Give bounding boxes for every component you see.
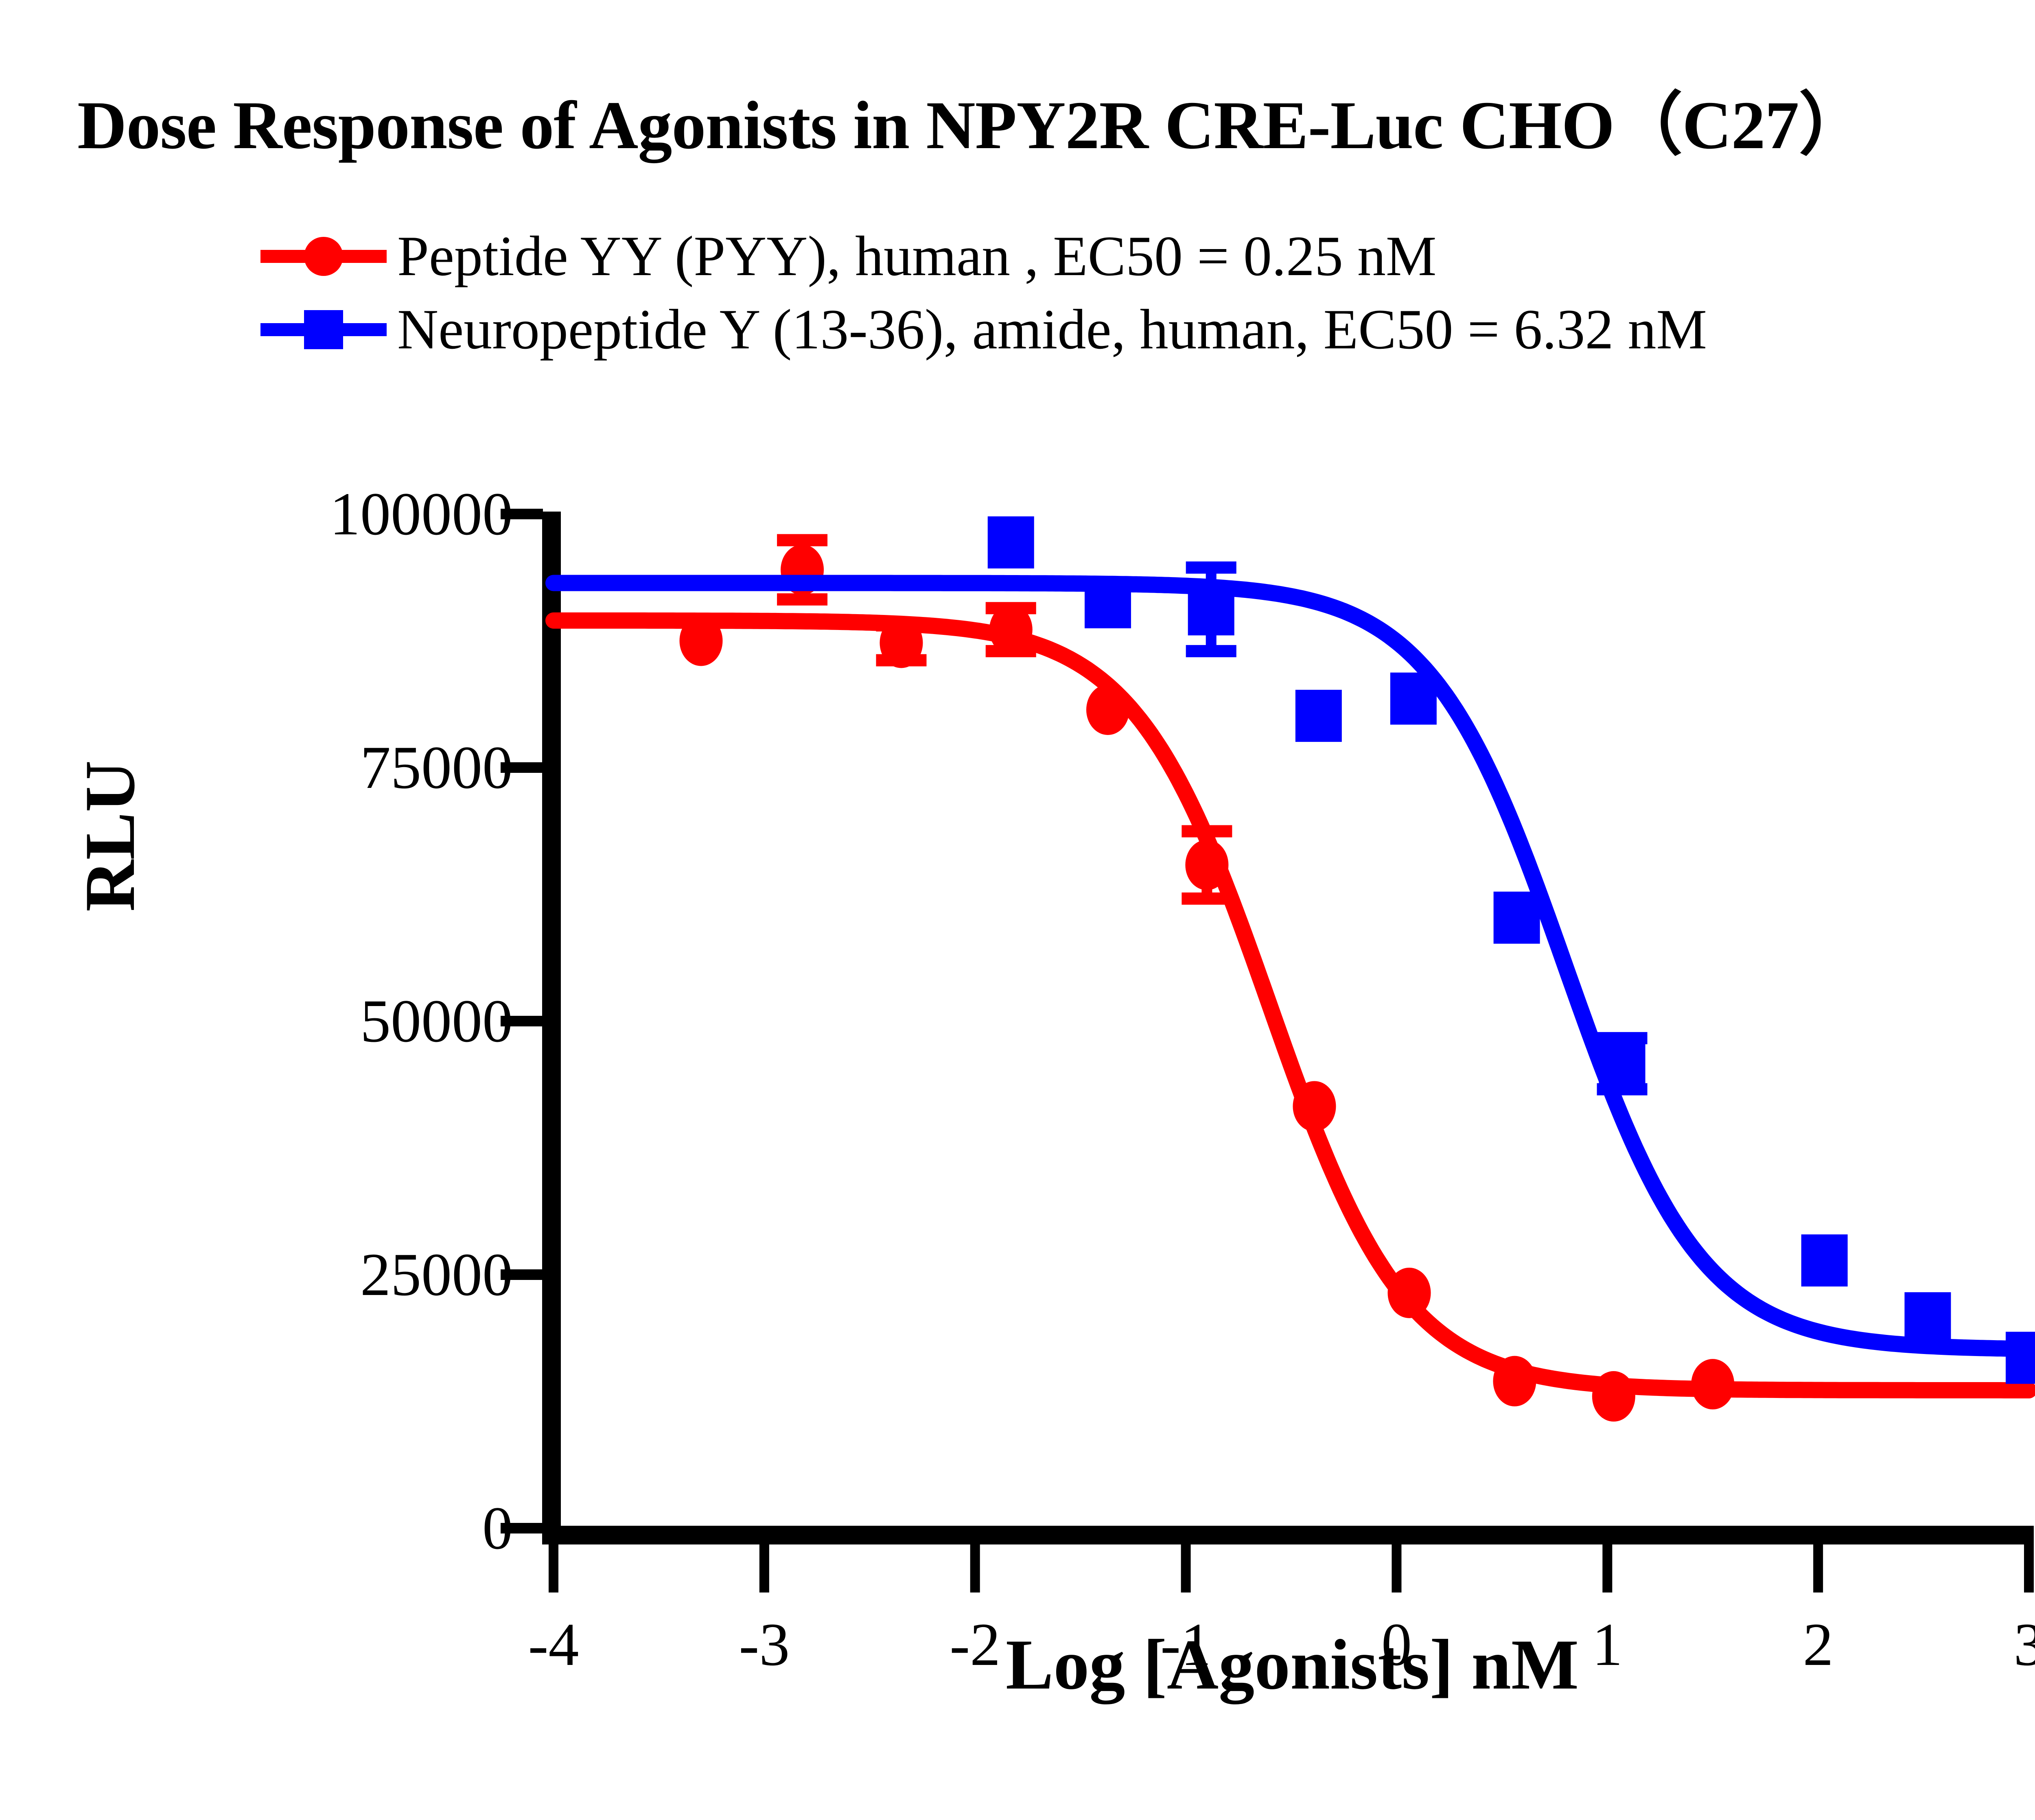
data-point-circle[interactable] bbox=[989, 604, 1033, 655]
x-axis-tick bbox=[2024, 1544, 2034, 1592]
data-point-circle[interactable] bbox=[1293, 1081, 1336, 1131]
x-axis-tick bbox=[1392, 1544, 1401, 1592]
chart-page: Dose Response of Agonists in NPY2R CRE-L… bbox=[0, 0, 2035, 1820]
x-axis-tick bbox=[970, 1544, 980, 1592]
error-bar-cap bbox=[1186, 562, 1236, 574]
x-axis-tick bbox=[549, 1544, 558, 1592]
data-point-circle[interactable] bbox=[1691, 1359, 1734, 1409]
x-axis-tick bbox=[759, 1544, 769, 1592]
y-axis-title: RLU bbox=[69, 760, 151, 912]
data-point-square[interactable] bbox=[1599, 1038, 1646, 1090]
error-bar-cap bbox=[1182, 892, 1232, 905]
data-point-circle[interactable] bbox=[880, 617, 923, 668]
y-axis-tick bbox=[501, 1016, 543, 1026]
data-point-square[interactable] bbox=[2006, 1332, 2035, 1384]
x-axis-tick bbox=[1181, 1544, 1191, 1592]
y-axis-tick bbox=[501, 1523, 543, 1533]
error-bar-cap bbox=[1182, 825, 1232, 838]
data-point-square[interactable] bbox=[1801, 1234, 1848, 1286]
data-point-square[interactable] bbox=[1904, 1292, 1951, 1344]
data-point-square[interactable] bbox=[1295, 690, 1342, 742]
data-point-square[interactable] bbox=[1390, 673, 1437, 725]
y-axis-tick bbox=[501, 762, 543, 773]
x-axis-title: Log [Agonists] nM bbox=[554, 1624, 2031, 1706]
fit-curve-npy bbox=[554, 583, 2029, 1349]
x-axis-tick bbox=[1813, 1544, 1823, 1592]
data-point-circle[interactable] bbox=[1185, 840, 1228, 890]
data-point-square[interactable] bbox=[1494, 892, 1540, 944]
chart-canvas bbox=[0, 0, 2035, 1820]
y-axis-line bbox=[542, 512, 561, 1528]
y-axis-tick bbox=[501, 1269, 543, 1280]
data-point-circle[interactable] bbox=[680, 616, 723, 666]
data-point-circle[interactable] bbox=[1592, 1371, 1635, 1422]
x-axis-tick bbox=[1602, 1544, 1612, 1592]
data-point-circle[interactable] bbox=[1388, 1268, 1431, 1318]
error-bar-cap bbox=[1186, 645, 1236, 657]
data-point-square[interactable] bbox=[1085, 576, 1131, 628]
data-point-circle[interactable] bbox=[1493, 1356, 1536, 1407]
x-axis-line bbox=[542, 1526, 2034, 1544]
data-point-square[interactable] bbox=[988, 516, 1034, 569]
data-point-square[interactable] bbox=[1188, 583, 1234, 635]
plot-area: 0250005000075000100000 -4-3-2-10123 RLU … bbox=[0, 0, 2035, 1820]
y-axis-tick bbox=[501, 509, 543, 519]
error-bar-cap bbox=[777, 534, 827, 546]
error-bar-cap bbox=[777, 593, 827, 606]
data-point-circle[interactable] bbox=[1086, 685, 1129, 735]
